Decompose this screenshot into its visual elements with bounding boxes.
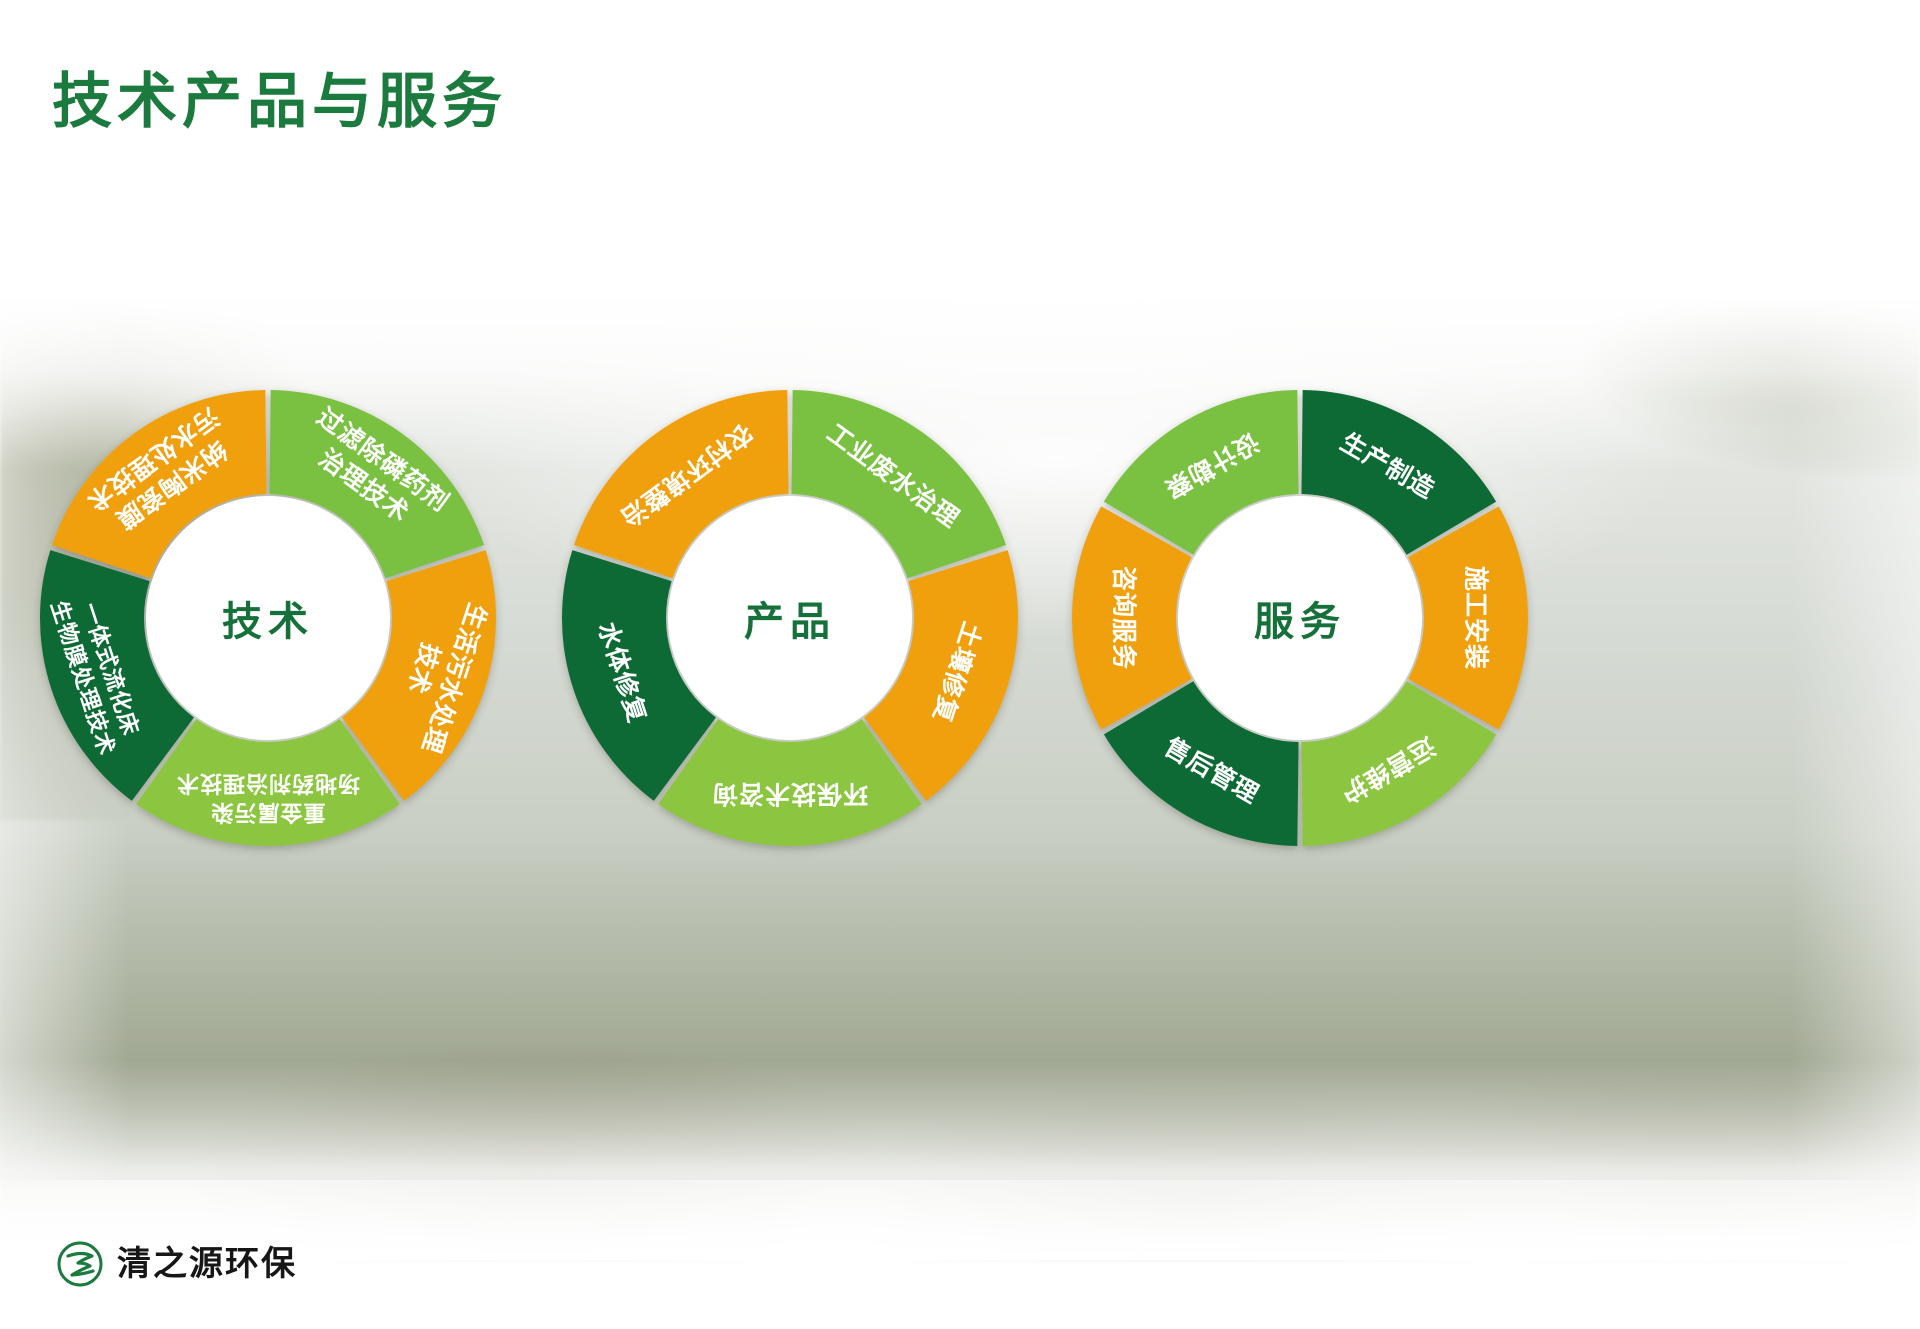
wheel-product: 工业废水治理土壤修复环保技术咨询水体修复农村环境整治 产品: [560, 388, 1020, 848]
background-fade-right: [1790, 300, 1920, 1180]
background-fade-bottom: [0, 1060, 1920, 1260]
page-title: 技术产品与服务: [52, 72, 507, 132]
svg-text:施工安装: 施工安装: [1461, 566, 1490, 670]
svg-text:咨询服务: 咨询服务: [1109, 566, 1138, 670]
wheel-service: 生产制造施工安装运营维护售后管理咨询服务设计勘察 服务: [1070, 388, 1530, 848]
wheel-segment-label: 环保技术咨询: [712, 779, 868, 808]
company-name: 清之源环保: [117, 1247, 297, 1281]
svg-text:环保技术咨询: 环保技术咨询: [712, 779, 868, 808]
wheel-service-svg: 生产制造施工安装运营维护售后管理咨询服务设计勘察: [1070, 388, 1530, 848]
wheel-hub-disc: [146, 496, 390, 740]
wheel-product-svg: 工业废水治理土壤修复环保技术咨询水体修复农村环境整治: [560, 388, 1020, 848]
company-logo-icon: [56, 1240, 104, 1288]
wheel-segment-label: 咨询服务: [1109, 566, 1138, 670]
svg-text:重金属污染: 重金属污染: [210, 800, 325, 825]
wheel-technology-svg: 过滤除磷药剂治理技术生活污水处理技术重金属污染场地药剂治理技术一体式流化床生物膜…: [38, 388, 498, 848]
wheel-segment-label: 施工安装: [1461, 566, 1490, 670]
wheel-hub-disc: [668, 496, 912, 740]
svg-text:场地药剂治理技术: 场地药剂治理技术: [176, 771, 360, 796]
wheel-technology: 过滤除磷药剂治理技术生活污水处理技术重金属污染场地药剂治理技术一体式流化床生物膜…: [38, 388, 498, 848]
footer-logo: 清之源环保: [56, 1240, 297, 1288]
wheel-hub-disc: [1178, 496, 1422, 740]
